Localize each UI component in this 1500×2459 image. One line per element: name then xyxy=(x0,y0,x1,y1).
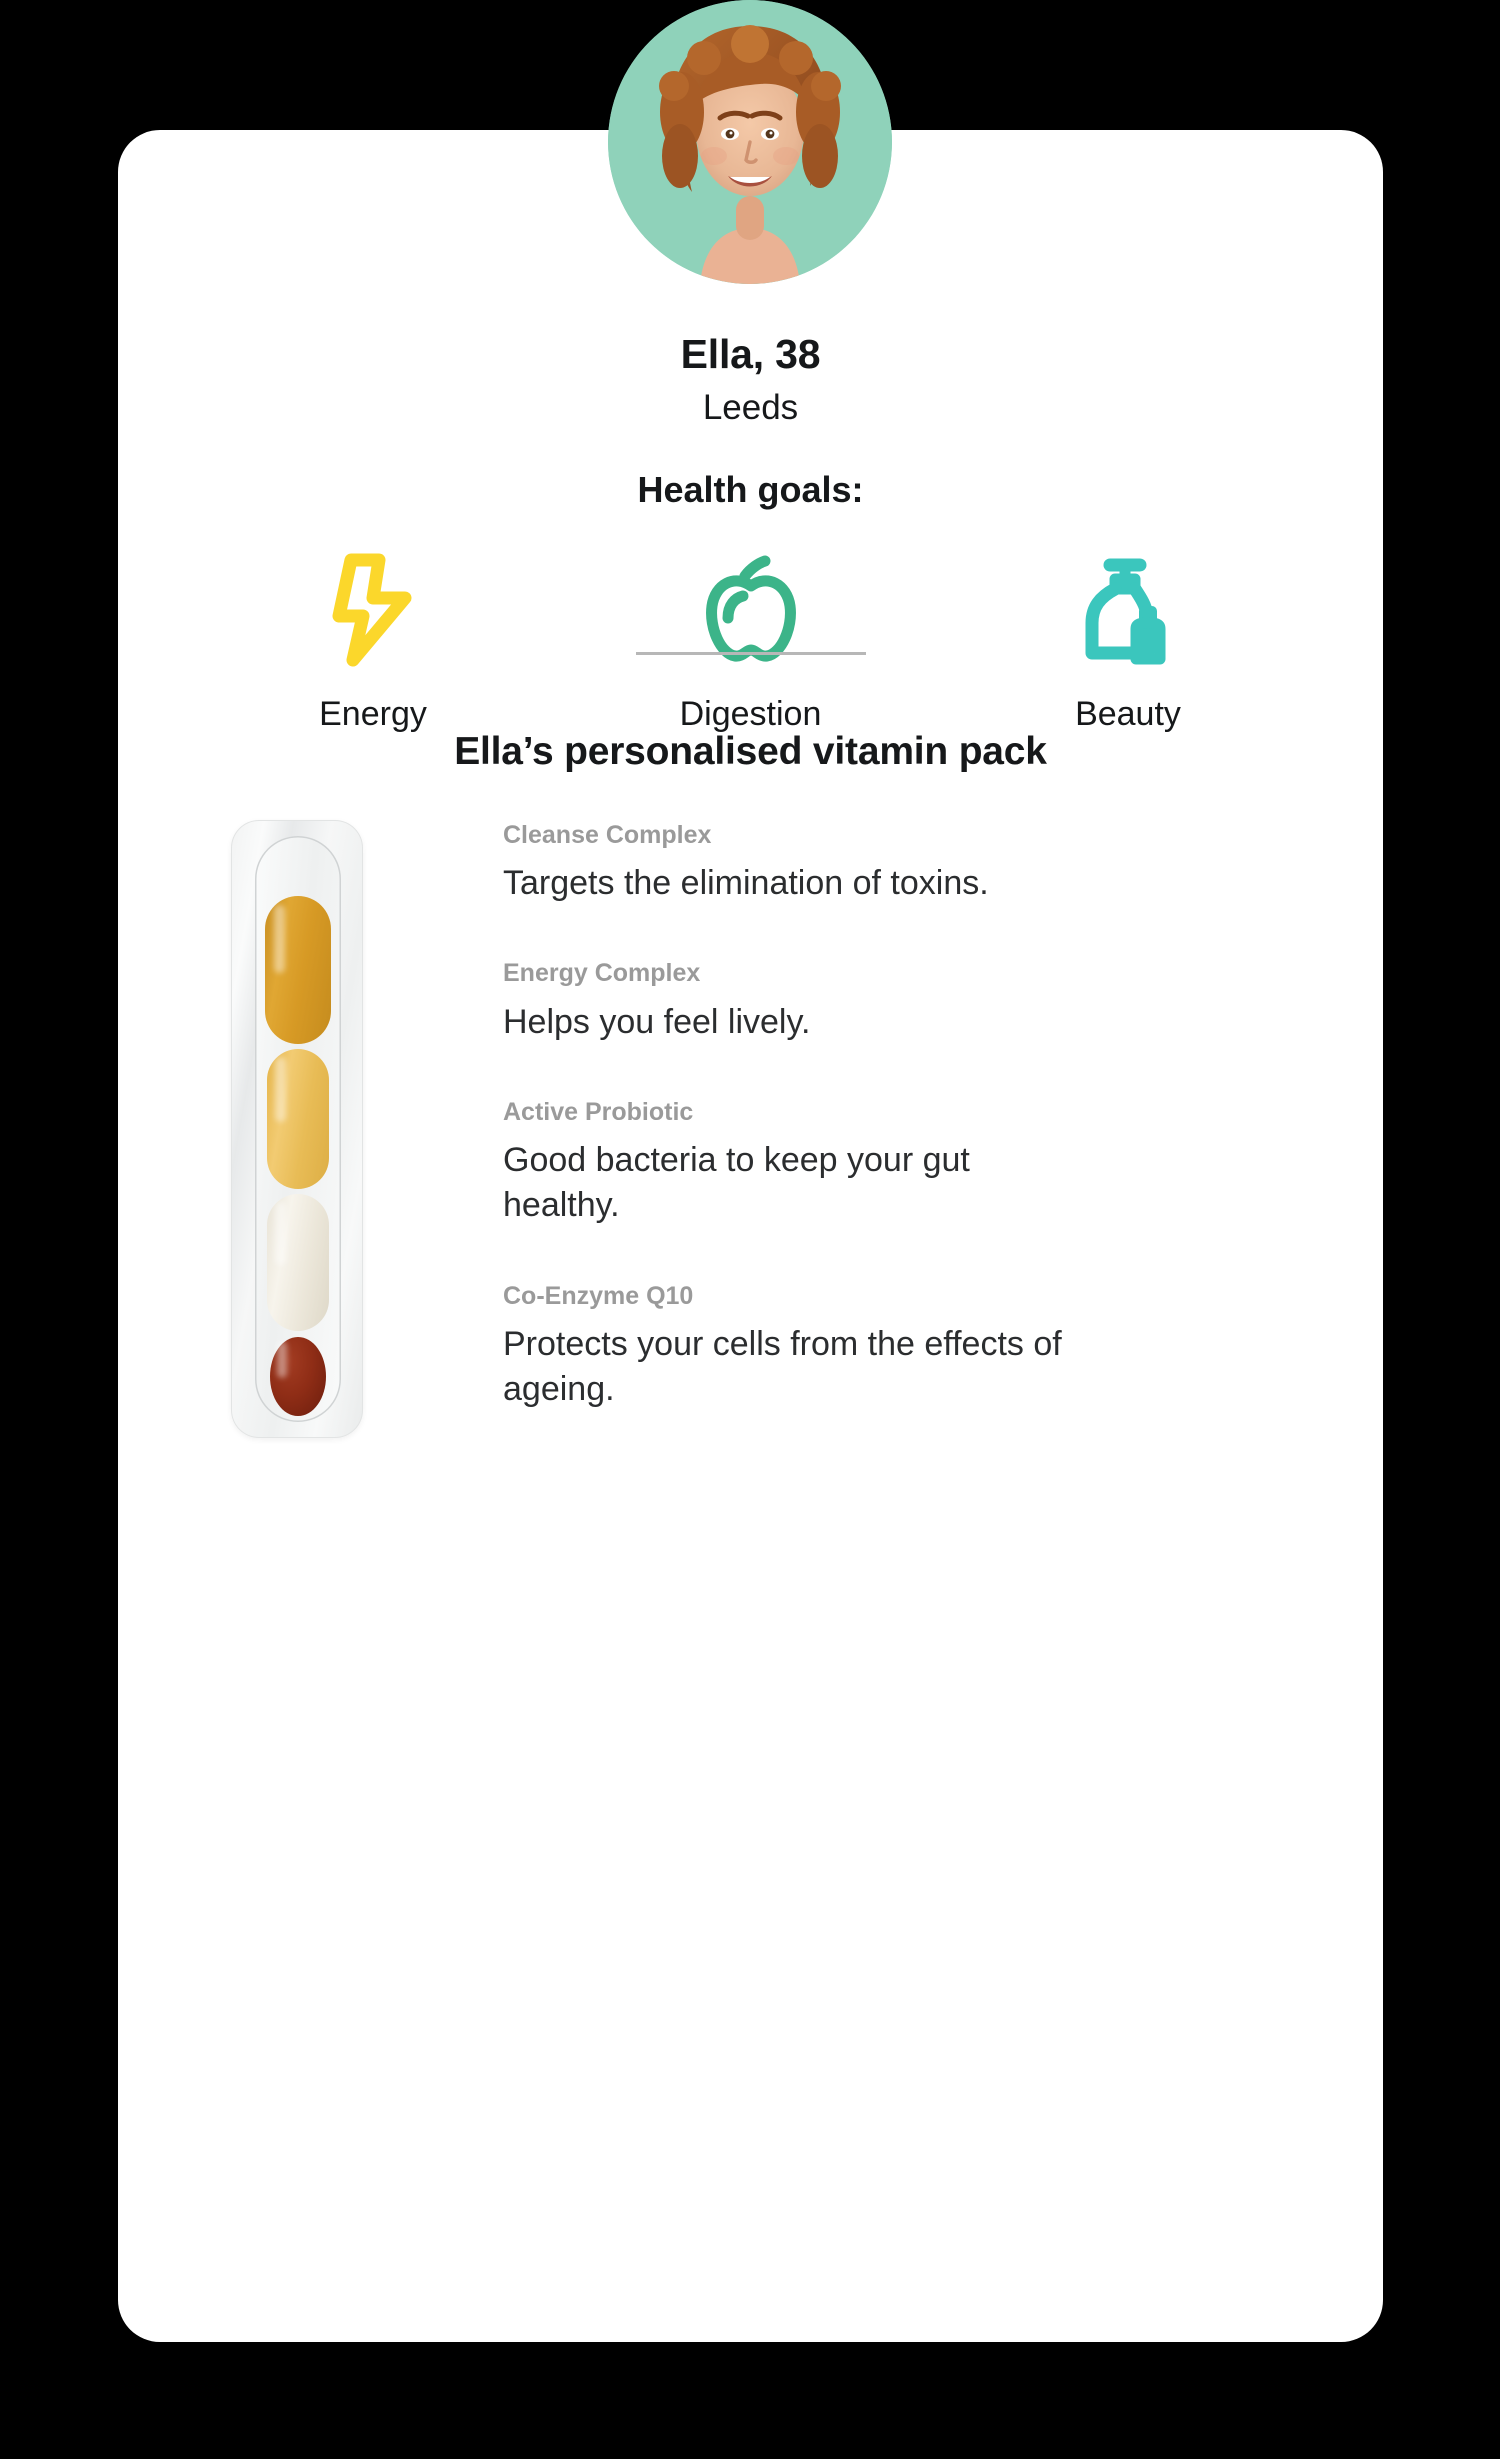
person-location: Leeds xyxy=(118,387,1383,429)
list-item: Active Probiotic Good bacteria to keep y… xyxy=(503,1097,1323,1229)
supplement-list: Cleanse Complex Targets the elimination … xyxy=(408,820,1383,1412)
health-goals-heading: Health goals: xyxy=(118,469,1383,511)
list-item: Energy Complex Helps you feel lively. xyxy=(503,958,1323,1044)
supplement-name: Active Probiotic xyxy=(503,1097,1323,1128)
supplement-description: Good bacteria to keep your gut healthy. xyxy=(503,1138,1063,1228)
pill-white-capsule xyxy=(267,1194,329,1331)
screen-root: Ella, 38 Leeds Health goals: Energy xyxy=(0,0,1500,2459)
cosmetics-bottle-icon xyxy=(1078,550,1178,670)
blister-pack-column xyxy=(118,820,408,1438)
page-title: Ella, 38 xyxy=(118,330,1383,379)
section-divider xyxy=(636,652,866,655)
vitamin-pack-body: Cleanse Complex Targets the elimination … xyxy=(118,820,1383,1438)
identity-block: Ella, 38 Leeds xyxy=(118,330,1383,429)
health-goal-beauty[interactable]: Beauty xyxy=(993,550,1263,733)
supplement-description: Helps you feel lively. xyxy=(503,1000,1063,1045)
pill-red-softgel-capsule xyxy=(270,1337,326,1416)
health-goal-label: Beauty xyxy=(1075,696,1181,733)
profile-card: Ella, 38 Leeds Health goals: Energy xyxy=(118,130,1383,2342)
blister-pack-image xyxy=(231,820,363,1438)
health-goal-label: Energy xyxy=(319,696,427,733)
pill-strip xyxy=(261,844,335,1416)
vitamin-pack-heading: Ella’s personalised vitamin pack xyxy=(118,730,1383,774)
supplement-description: Protects your cells from the effects of … xyxy=(503,1322,1063,1412)
supplement-name: Energy Complex xyxy=(503,958,1323,989)
avatar xyxy=(608,0,892,284)
pill-amber-capsule xyxy=(265,896,331,1044)
pill-golden-capsule xyxy=(267,1049,329,1189)
lightning-bolt-icon xyxy=(327,550,419,670)
health-goal-energy[interactable]: Energy xyxy=(238,550,508,733)
supplement-name: Co-Enzyme Q10 xyxy=(503,1281,1323,1312)
list-item: Cleanse Complex Targets the elimination … xyxy=(503,820,1323,906)
health-goal-digestion[interactable]: Digestion xyxy=(616,550,886,733)
avatar-photo xyxy=(608,0,892,284)
health-goal-label: Digestion xyxy=(680,696,822,733)
health-goals-list: Energy Digestion xyxy=(238,550,1263,733)
supplement-description: Targets the elimination of toxins. xyxy=(503,861,1063,906)
list-item: Co-Enzyme Q10 Protects your cells from t… xyxy=(503,1281,1323,1413)
supplement-name: Cleanse Complex xyxy=(503,820,1323,851)
